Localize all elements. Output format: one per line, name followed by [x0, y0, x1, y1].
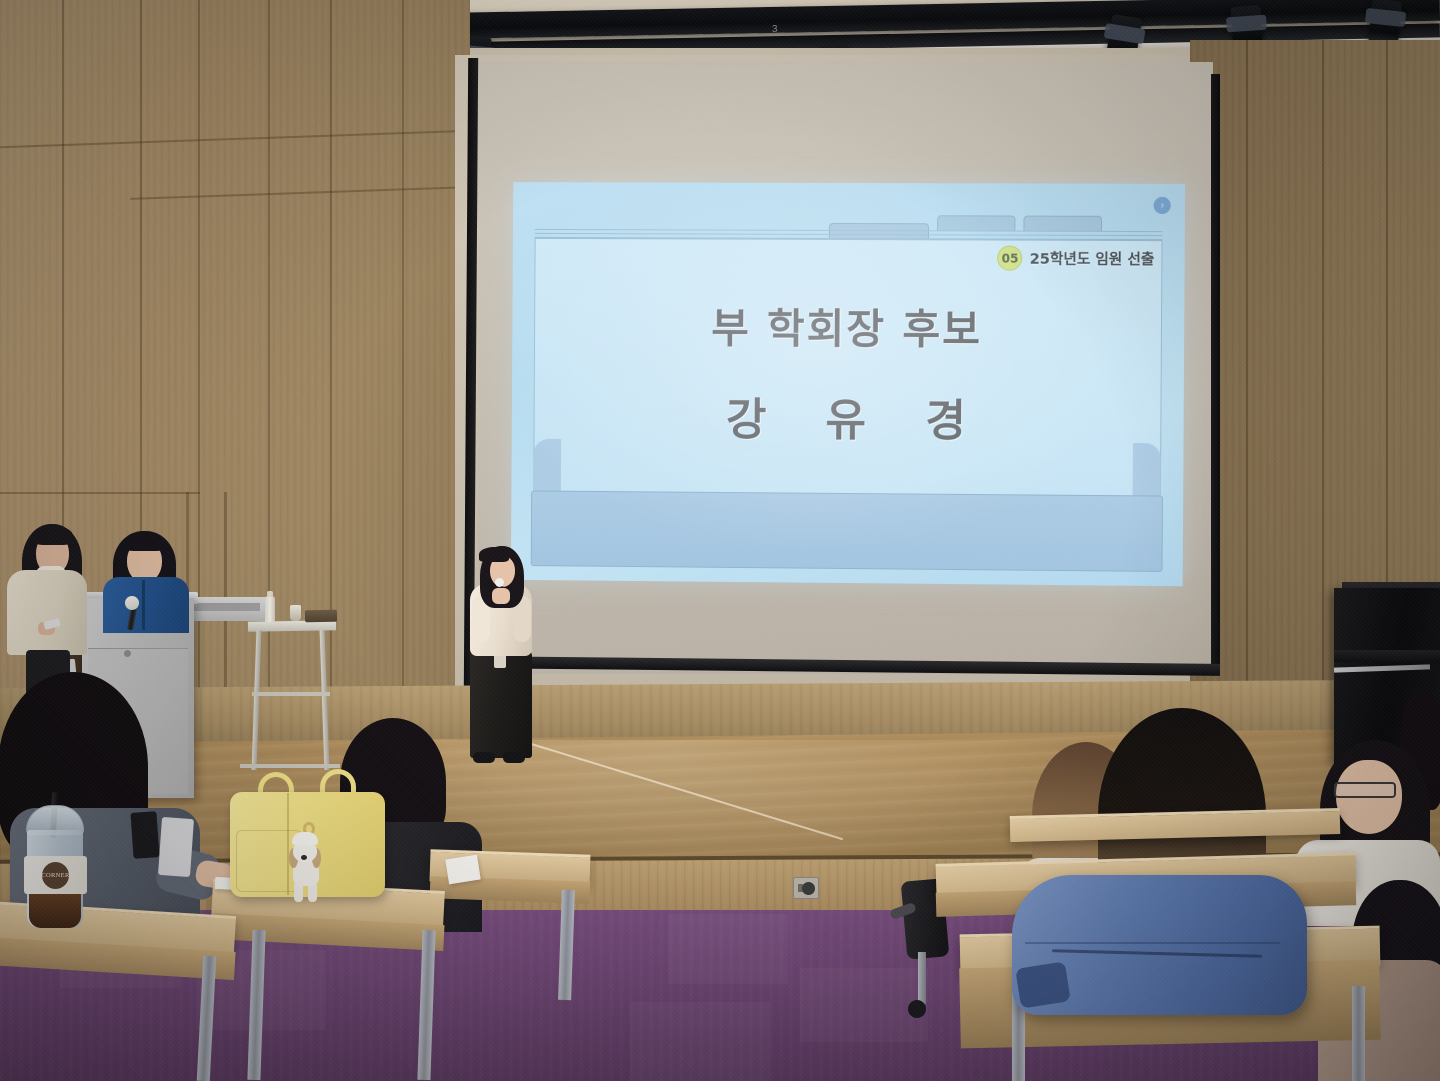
microphone-icon [125, 596, 139, 610]
projected-slide: 05 25학년도 임원 선출 부 학회장 후보 강 유 경 › [511, 182, 1185, 586]
desk-leg [1352, 986, 1365, 1081]
panel-seam [130, 186, 470, 200]
tablet-icon [158, 817, 194, 877]
slide-badge-label: 25학년도 임원 선출 [1030, 248, 1155, 270]
podium-shelf-slot [192, 603, 260, 611]
chair-wheel [908, 1000, 926, 1018]
charm-nose [301, 855, 307, 860]
hair-fringe [479, 547, 509, 562]
power-outlet-icon [793, 877, 819, 899]
door-frame [224, 492, 227, 692]
folder-tab [1023, 216, 1102, 232]
slide-badge-number: 05 [997, 246, 1022, 271]
dog-keychain-charm [287, 830, 327, 902]
panel-seam [198, 0, 200, 700]
truss-number-label: 3 [772, 24, 778, 35]
slide-section-badge: 05 25학년도 임원 선출 [997, 246, 1154, 272]
table-foot-bar [240, 764, 340, 768]
folder-front-pocket [531, 490, 1163, 571]
slide-candidate-name: 강 유 경 [512, 382, 1184, 450]
backpack-flap [1025, 886, 1280, 944]
chair-post [918, 952, 926, 1004]
shoe-right [503, 752, 525, 763]
panel-seam [1322, 40, 1324, 760]
hands [492, 588, 510, 604]
cup-sleeve: CORNER [24, 856, 87, 894]
cup-brand-logo: CORNER [42, 862, 69, 889]
panel-seam [0, 130, 470, 148]
podium-knob [124, 650, 131, 657]
tray [305, 610, 337, 623]
paper-sheet [445, 855, 481, 885]
screen-border-right [1211, 74, 1220, 674]
panel-seam [330, 0, 332, 700]
hair-fringe [33, 526, 73, 545]
microphone-icon [495, 578, 504, 587]
carpet-tile [668, 914, 788, 984]
water-bottle [265, 596, 275, 622]
slide-title: 부 학회장 후보 [512, 293, 1184, 356]
panel-seam [0, 492, 200, 494]
coffee-liquid [29, 890, 81, 928]
phone-icon [130, 811, 159, 859]
auditorium-photo-scene: 3 [0, 0, 1440, 1081]
blue-cardigan [103, 577, 189, 633]
hair-fringe [124, 533, 166, 551]
eyeglasses-icon [1334, 782, 1396, 798]
charm-cap [292, 832, 318, 845]
piano-lid [1334, 650, 1440, 662]
cardigan-placket [142, 580, 145, 630]
panel-seam [402, 0, 404, 700]
table-crossbar [252, 692, 330, 696]
paper-cup [290, 605, 301, 621]
panel-seam [1246, 40, 1248, 760]
folder-tab [937, 215, 1015, 231]
shoe-left [473, 752, 495, 763]
backpack-strap [1015, 961, 1071, 1008]
cream-sweater [7, 570, 87, 655]
next-arrow-icon[interactable]: › [1154, 197, 1171, 214]
carpet-tile [630, 1002, 770, 1081]
